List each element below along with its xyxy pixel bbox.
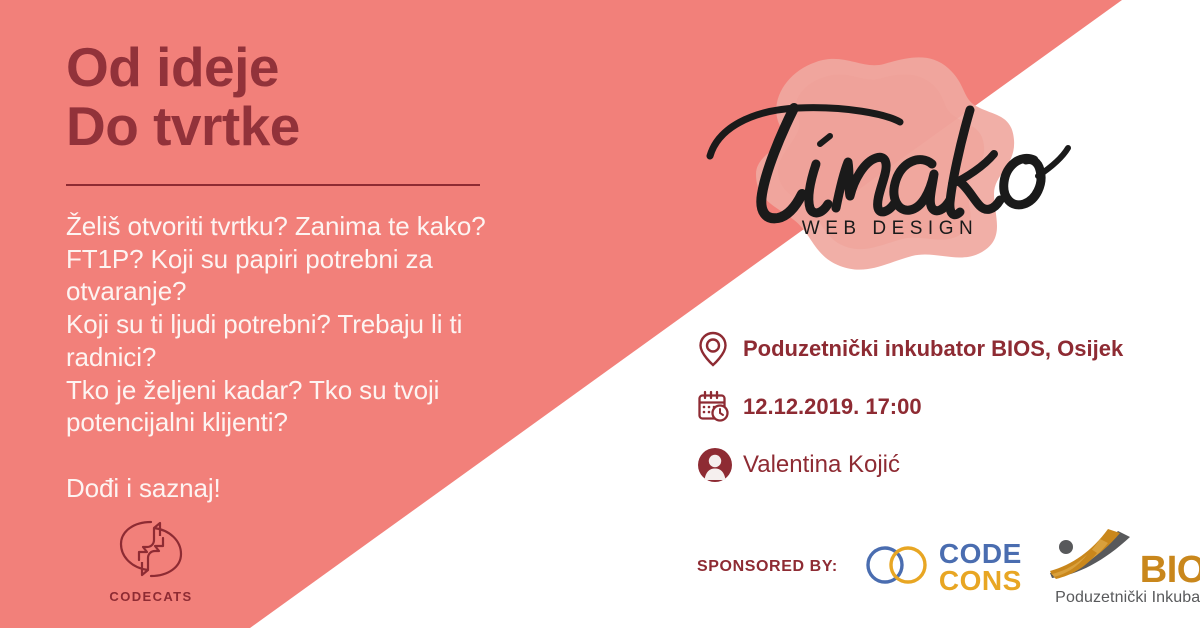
codecons-logo: CODE CONS [864, 540, 1022, 594]
body-paragraph: Želiš otvoriti tvrtku? Zanima te kako? F… [66, 210, 566, 439]
info-row-datetime: 12.12.2019. 17:00 [697, 385, 1123, 429]
call-to-action-text: Dođi i saznaj! [66, 472, 566, 505]
codecats-logo: CODECATS [86, 516, 216, 604]
codecons-line2: CONS [939, 567, 1022, 594]
bios-wordmark: BIOS [1140, 555, 1200, 586]
person-avatar-icon [697, 447, 743, 483]
info-speaker-text: Valentina Kojić [743, 451, 900, 479]
info-row-location: Poduzetnički inkubator BIOS, Osijek [697, 327, 1123, 371]
map-pin-icon [697, 330, 743, 368]
tinako-logo: WEB DESIGN [694, 48, 1084, 278]
codecats-label: CODECATS [86, 589, 216, 604]
bios-swoosh-icon [1044, 527, 1136, 586]
sponsors-bar: SPONSORED BY: CODE CONS [697, 527, 1200, 607]
bios-subtitle: Poduzetnički Inkubator [1055, 589, 1200, 607]
event-info-list: Poduzetnički inkubator BIOS, Osijek 12.1… [697, 327, 1123, 501]
info-location-text: Poduzetnički inkubator BIOS, Osijek [743, 336, 1123, 362]
info-datetime-text: 12.12.2019. 17:00 [743, 394, 922, 420]
page-title: Od ideje Do tvrtke [66, 38, 566, 157]
sponsored-by-label: SPONSORED BY: [697, 558, 838, 576]
codecons-line1: CODE [939, 540, 1022, 567]
calendar-clock-icon [697, 390, 743, 424]
title-divider [66, 184, 480, 186]
bios-logo: BIOS Poduzetnički Inkubator [1044, 527, 1200, 607]
codecons-wordmark: CODE CONS [939, 540, 1022, 594]
bios-logo-top: BIOS [1044, 527, 1200, 586]
poster-canvas: Od ideje Do tvrtke Želiš otvoriti tvrtku… [0, 0, 1200, 628]
left-content-column: Od ideje Do tvrtke Želiš otvoriti tvrtku… [66, 38, 566, 505]
two-rings-icon [864, 544, 930, 591]
info-row-speaker: Valentina Kojić [697, 443, 1123, 487]
tinako-tagline: WEB DESIGN [802, 218, 978, 239]
cat-logo-icon [86, 516, 216, 582]
